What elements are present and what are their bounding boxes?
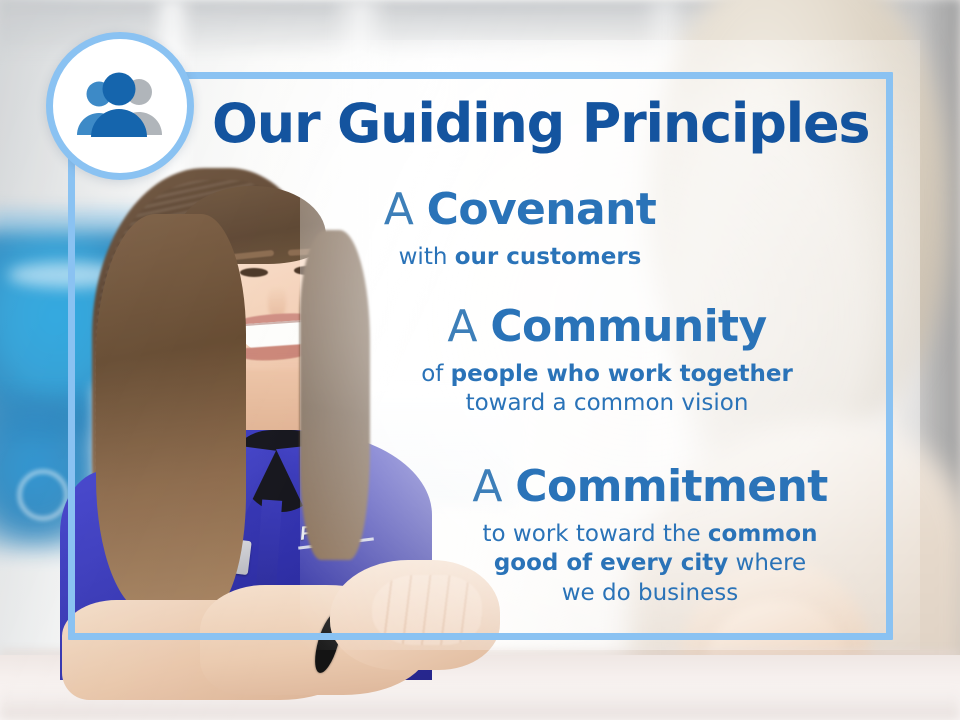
principle-heading: A Community — [382, 303, 832, 351]
principle-subtitle: of people who work together toward a com… — [382, 360, 832, 420]
principle-block-community: A Community of people who work together … — [382, 303, 832, 419]
subtitle-text: we do business — [562, 580, 739, 606]
principle-subtitle: to work toward the common good of every … — [430, 520, 870, 610]
principle-keyword: Commitment — [515, 461, 827, 512]
principle-keyword: Covenant — [427, 184, 657, 235]
subtitle-text: with — [399, 244, 455, 270]
subtitle-emphasis: people who work together — [451, 361, 793, 387]
group-of-people-icon — [72, 71, 168, 141]
subtitle-text: toward a common vision — [466, 390, 749, 416]
principle-article: A — [384, 184, 427, 235]
people-badge — [46, 32, 194, 180]
principle-heading: A Commitment — [430, 463, 870, 511]
subtitle-text: of — [421, 361, 450, 387]
principle-heading: A Covenant — [330, 186, 710, 234]
principle-keyword: Community — [490, 301, 766, 352]
principle-article: A — [447, 301, 490, 352]
page-title: Our Guiding Principles — [212, 96, 872, 153]
subtitle-text: to work toward the — [483, 521, 708, 547]
subtitle-emphasis: common — [708, 521, 818, 547]
banner-canvas: FLOW FLOW Ou — [0, 0, 960, 720]
principle-block-covenant: A Covenant with our customers — [330, 186, 710, 272]
subtitle-emphasis: our customers — [455, 244, 642, 270]
principle-subtitle: with our customers — [330, 243, 710, 273]
subtitle-emphasis: good of every city — [494, 550, 728, 576]
subtitle-text: where — [728, 550, 806, 576]
principle-article: A — [472, 461, 515, 512]
principle-block-commitment: A Commitment to work toward the common g… — [430, 463, 870, 609]
